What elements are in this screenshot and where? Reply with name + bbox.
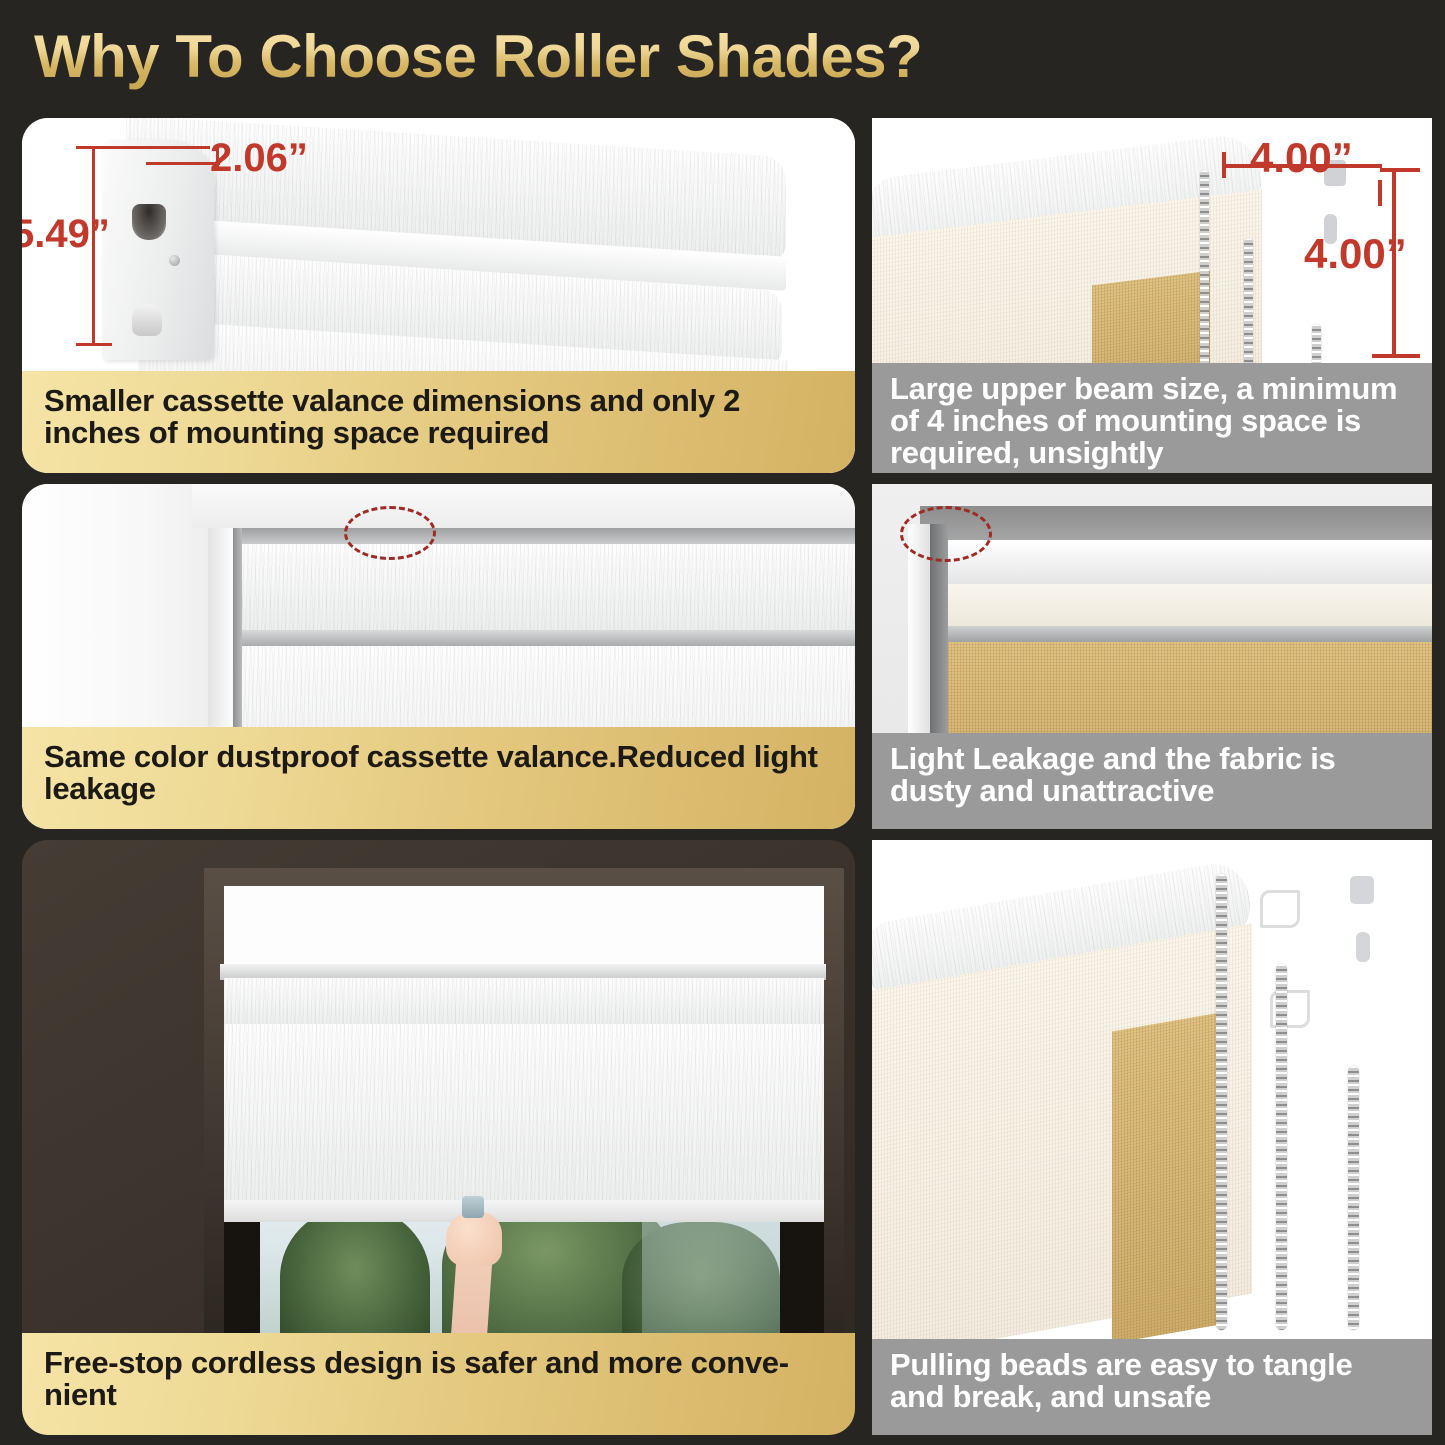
panel-smaller-cassette: 5.49” 2.06” Smaller cassette valance dim… (22, 118, 855, 473)
cassette-headrail (224, 886, 824, 970)
beam-height-tick-bottom (1372, 354, 1420, 358)
bead-chain-1 (1216, 874, 1227, 1330)
control-slot-icon (132, 204, 166, 240)
beam-width-label: 4.00” (1250, 134, 1353, 182)
panel-cordless-design: Free-stop cordless design is safer and m… (22, 840, 855, 1435)
beam-width-tick-left (1222, 152, 1226, 178)
panel-5-caption-text: Free-stop cordless design is safer and m… (44, 1347, 833, 1411)
panel-dustproof-cassette: smaller gap Same color dustproof cassett… (22, 484, 855, 829)
window-casing-top (192, 484, 855, 528)
inner-tan-panel (1112, 1012, 1220, 1343)
width-dim-line (92, 146, 210, 149)
panel-3-caption-text: Same color dustproof cassette valance.Re… (44, 741, 833, 805)
fabric-roll-band (916, 584, 1432, 628)
comparison-grid: 5.49” 2.06” Smaller cassette valance dim… (0, 112, 1445, 1445)
panel-large-beam: 4.00” 4.00” Large upper beam size, a min… (872, 118, 1432, 473)
lock-pin-icon (132, 304, 162, 336)
panel-6-caption-bar: Pulling beads are easy to tangle and bre… (872, 1339, 1432, 1435)
width-dim-line2 (146, 162, 220, 165)
gap-highlight-ellipse (900, 506, 992, 562)
panel-1-caption-text: Smaller cassette valance dimensions and … (44, 385, 833, 449)
screw-icon (169, 255, 180, 266)
panel-5-caption-bar: Free-stop cordless design is safer and m… (22, 1333, 855, 1435)
panel-4-caption-text: Light Leakage and the fabric is dusty an… (890, 743, 1414, 807)
cassette-face (236, 544, 855, 632)
cassette-bottom-rail (236, 630, 855, 646)
panel-3-caption-bar: Same color dustproof cassette valance.Re… (22, 727, 855, 829)
panel-2-caption-text: Large upper beam size, a minimum of 4 in… (890, 373, 1414, 470)
beam-height-tick-top (1380, 168, 1420, 172)
width-dimension-label: 2.06” (210, 136, 308, 181)
panel-pulling-beads: Pulling beads are easy to tangle and bre… (872, 840, 1432, 1435)
hand-fingers (446, 1212, 502, 1266)
bracket-slot-icon (1350, 876, 1374, 904)
bracket-slot-2-icon (1356, 932, 1370, 962)
panel-6-caption-text: Pulling beads are easy to tangle and bre… (890, 1349, 1414, 1413)
page-title: Why To Choose Roller Shades? (34, 22, 922, 91)
bead-chain-3 (1348, 1066, 1359, 1330)
bottom-rail (916, 626, 1432, 642)
bottom-rail (224, 1200, 824, 1222)
beam-width-tick-right (1378, 180, 1382, 206)
panel-2-caption-bar: Large upper beam size, a minimum of 4 in… (872, 363, 1432, 473)
panel-1-caption-bar: Smaller cassette valance dimensions and … (22, 371, 855, 473)
panel-light-leakage: Large gap Light Leakage and the fabric i… (872, 484, 1432, 829)
pull-tab (462, 1196, 484, 1218)
shade-fabric-panel (224, 1024, 824, 1208)
height-dim-tick-bottom (76, 343, 112, 346)
gap-highlight-ellipse (344, 506, 436, 560)
beam-height-label: 4.00” (1304, 230, 1407, 278)
bead-chain-2 (1276, 964, 1287, 1330)
panel-4-caption-bar: Light Leakage and the fabric is dusty an… (872, 733, 1432, 829)
valance-skirt (224, 978, 824, 1026)
rotation-arrow-icon (1260, 890, 1300, 928)
page-header: Why To Choose Roller Shades? (0, 0, 1445, 112)
height-dimension-label: 5.49” (22, 212, 110, 257)
